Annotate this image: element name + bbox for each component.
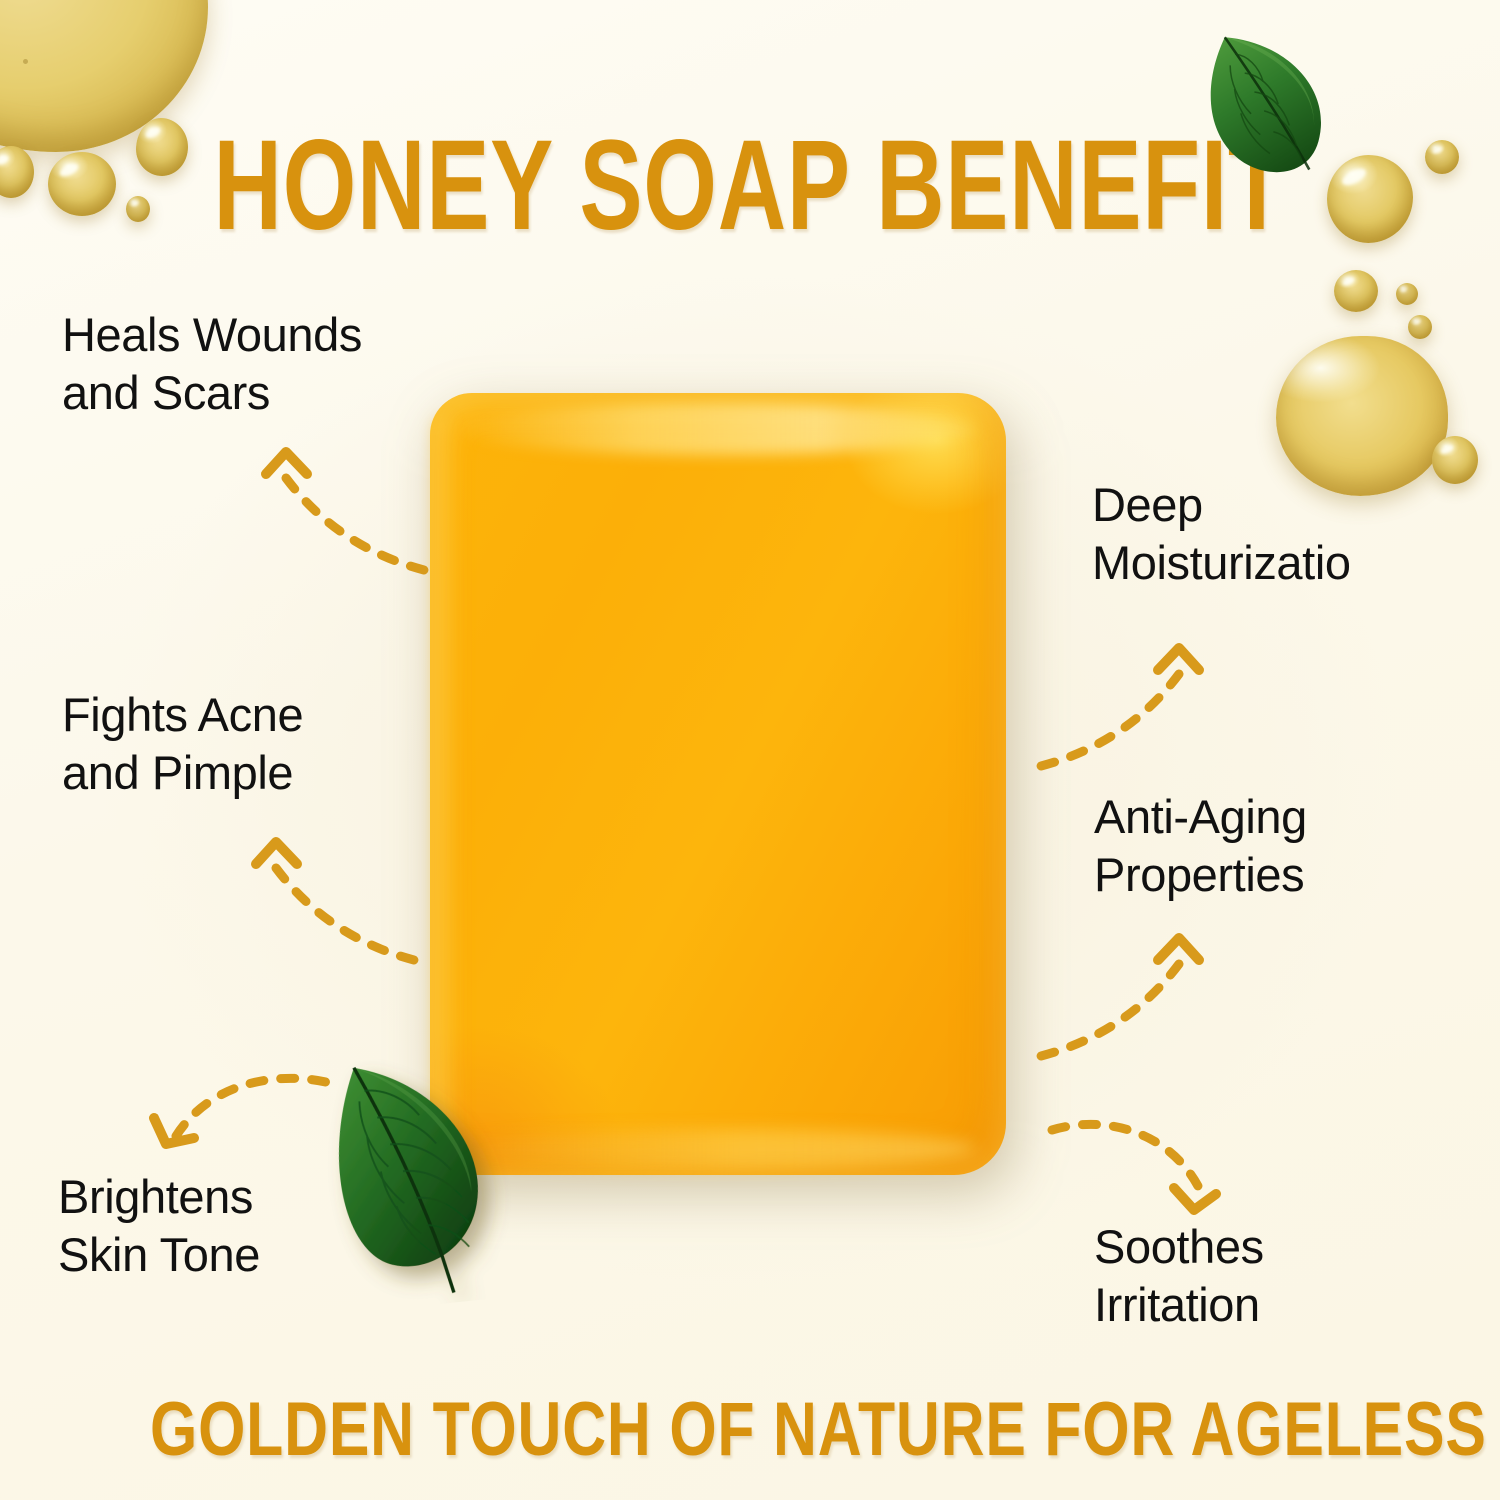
soap-body <box>430 393 1006 1175</box>
soap-top-highlight <box>456 403 976 455</box>
honey-blob-right <box>1276 336 1448 496</box>
honey-drop-tl-4 <box>126 196 150 222</box>
benefit-label-soothes: Soothes Irritation <box>1094 1218 1264 1335</box>
honey-drop-tl-3 <box>0 146 34 198</box>
honey-drop-tl-1 <box>136 118 188 176</box>
benefit-label-anti-aging: Anti-Aging Properties <box>1094 788 1307 905</box>
page-tagline: GOLDEN TOUCH OF NATURE FOR AGELESS SKIN <box>150 1392 1350 1468</box>
benefit-label-heals: Heals Wounds and Scars <box>62 306 362 423</box>
benefit-label-acne: Fights Acne and Pimple <box>62 686 303 803</box>
page-title: HONEY SOAP BENEFIT <box>195 122 1305 250</box>
arrow-anti-aging <box>1032 920 1207 1085</box>
honey-drop-tl-2 <box>48 152 116 216</box>
soap-left-edge-highlight <box>432 415 458 1155</box>
honey-drop-r-4 <box>1396 283 1418 305</box>
honey-soap-bar <box>430 393 1008 1178</box>
arrow-fights-acne <box>248 824 423 989</box>
honey-drop-r-6 <box>1432 436 1478 484</box>
honey-drop-r-3 <box>1334 270 1378 312</box>
honey-soap-benefit-poster: HONEY SOAP BENEFIT <box>0 0 1500 1500</box>
benefit-label-brightens: Brightens Skin Tone <box>58 1168 260 1285</box>
honey-drop-r-2 <box>1425 140 1459 174</box>
arrow-heals-wounds <box>258 434 433 599</box>
honey-drop-r-5 <box>1408 315 1432 339</box>
arrow-deep-moisturization <box>1032 630 1207 795</box>
benefit-label-moisturization: Deep Moisturizatio <box>1092 476 1351 593</box>
soap-bottom-edge-highlight <box>460 1129 976 1169</box>
honey-drop-r-1 <box>1327 155 1413 243</box>
leaf-icon-bottom-center <box>309 1045 539 1315</box>
